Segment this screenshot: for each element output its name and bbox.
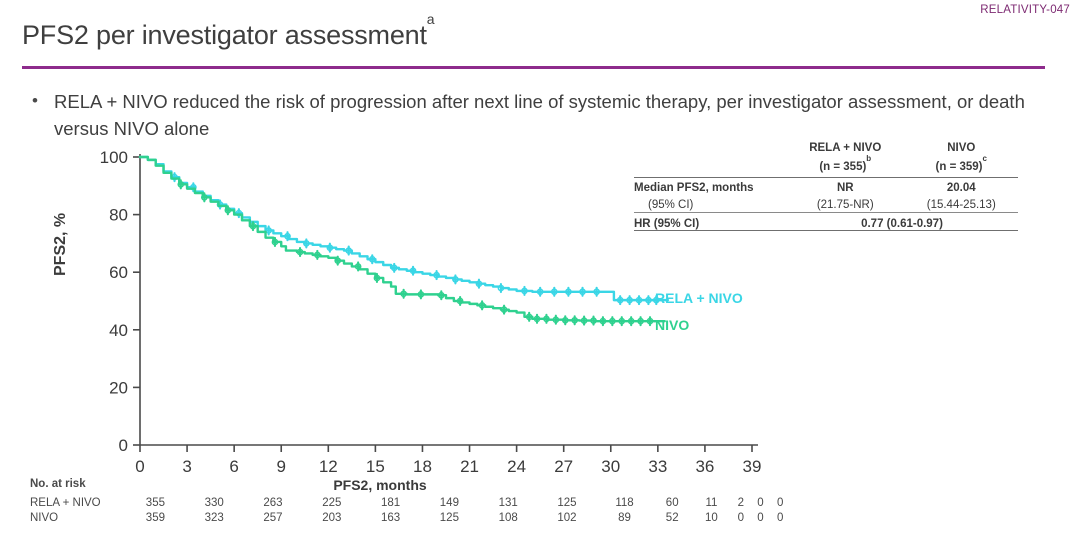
table-row: RELA + NIVO35533026322518114913112511860… bbox=[30, 496, 790, 511]
deck-code: RELATIVITY-047 bbox=[980, 4, 1070, 16]
x-tick-label: 21 bbox=[460, 457, 479, 476]
x-axis-label: PFS2, months bbox=[0, 477, 760, 493]
x-tick-label: 0 bbox=[135, 457, 144, 476]
x-tick-label: 33 bbox=[648, 457, 667, 476]
risk-cell-0-11: 2 bbox=[731, 496, 751, 511]
table-row: NIVO359323257203163125108102895210000 bbox=[30, 511, 790, 526]
risk-cell-1-1: 323 bbox=[185, 511, 244, 526]
risk-cell-1-6: 108 bbox=[479, 511, 538, 526]
risk-cell-1-13: 0 bbox=[770, 511, 790, 526]
y-tick-label: 40 bbox=[109, 321, 128, 340]
y-tick-label: 20 bbox=[109, 378, 128, 397]
risk-cell-1-10: 10 bbox=[692, 511, 731, 526]
risk-cell-0-8: 118 bbox=[596, 496, 652, 511]
risk-cell-1-7: 102 bbox=[538, 511, 597, 526]
x-tick-label: 15 bbox=[366, 457, 385, 476]
risk-cell-1-0: 359 bbox=[126, 511, 185, 526]
risk-cell-1-4: 163 bbox=[361, 511, 420, 526]
km-plot-svg: 020406080100036912151821242730333639 bbox=[0, 130, 790, 490]
hr-value: 0.77 (0.61-0.97) bbox=[786, 212, 1018, 230]
stats-cell-0-0: NR bbox=[786, 177, 905, 195]
risk-cell-1-9: 52 bbox=[653, 511, 692, 526]
risk-cell-0-9: 60 bbox=[653, 496, 692, 511]
risk-cell-0-1: 330 bbox=[185, 496, 244, 511]
page-title: PFS2 per investigator assessmenta bbox=[22, 20, 434, 51]
y-tick-label: 80 bbox=[109, 206, 128, 225]
bullet-marker: • bbox=[28, 88, 54, 114]
risk-cell-0-7: 125 bbox=[538, 496, 597, 511]
legend-label-nivo: NIVO bbox=[655, 317, 689, 333]
page-title-superscript: a bbox=[427, 11, 435, 27]
page-title-text: PFS2 per investigator assessment bbox=[22, 20, 427, 50]
x-tick-label: 27 bbox=[554, 457, 573, 476]
risk-cell-0-2: 263 bbox=[244, 496, 303, 511]
risk-cell-0-3: 225 bbox=[302, 496, 361, 511]
stats-col-header-0: RELA + NIVO(n = 355)b bbox=[786, 142, 905, 177]
stats-col-header-1: NIVO(n = 359)c bbox=[905, 142, 1018, 177]
x-tick-label: 18 bbox=[413, 457, 432, 476]
risk-cell-1-12: 0 bbox=[751, 511, 771, 526]
risk-cell-1-5: 125 bbox=[420, 511, 479, 526]
legend-label-rela-nivo: RELA + NIVO bbox=[655, 290, 743, 306]
risk-cell-0-5: 149 bbox=[420, 496, 479, 511]
x-tick-label: 6 bbox=[229, 457, 238, 476]
risk-cell-1-8: 89 bbox=[596, 511, 652, 526]
risk-cell-0-0: 355 bbox=[126, 496, 185, 511]
y-tick-label: 0 bbox=[119, 436, 128, 455]
risk-cell-1-3: 203 bbox=[302, 511, 361, 526]
risk-row-label-1: NIVO bbox=[30, 511, 126, 526]
risk-row-label-0: RELA + NIVO bbox=[30, 496, 126, 511]
risk-cell-0-10: 11 bbox=[692, 496, 731, 511]
kaplan-meier-chart: 020406080100036912151821242730333639 bbox=[0, 130, 790, 490]
km-curve-0 bbox=[140, 157, 658, 300]
y-axis-label: PFS2, % bbox=[52, 213, 70, 276]
risk-cell-0-6: 131 bbox=[479, 496, 538, 511]
risk-cell-1-2: 257 bbox=[244, 511, 303, 526]
risk-cell-0-4: 181 bbox=[361, 496, 420, 511]
x-tick-label: 39 bbox=[743, 457, 762, 476]
risk-cell-0-13: 0 bbox=[770, 496, 790, 511]
stats-cell-1-1: (15.44-25.13) bbox=[905, 195, 1018, 212]
km-curve-1 bbox=[140, 157, 655, 321]
censor-marks-0 bbox=[172, 173, 659, 304]
number-at-risk-title: No. at risk bbox=[30, 478, 86, 490]
x-tick-label: 12 bbox=[319, 457, 338, 476]
risk-cell-1-11: 0 bbox=[731, 511, 751, 526]
x-tick-label: 9 bbox=[276, 457, 285, 476]
risk-cell-0-12: 0 bbox=[751, 496, 771, 511]
censor-marks-1 bbox=[178, 180, 652, 325]
x-tick-label: 24 bbox=[507, 457, 526, 476]
x-tick-label: 3 bbox=[182, 457, 191, 476]
x-tick-label: 30 bbox=[601, 457, 620, 476]
stats-cell-1-0: (21.75-NR) bbox=[786, 195, 905, 212]
stats-cell-0-1: 20.04 bbox=[905, 177, 1018, 195]
x-tick-label: 36 bbox=[695, 457, 714, 476]
y-tick-label: 60 bbox=[109, 263, 128, 282]
y-tick-label: 100 bbox=[100, 148, 128, 167]
title-divider bbox=[22, 66, 1045, 69]
